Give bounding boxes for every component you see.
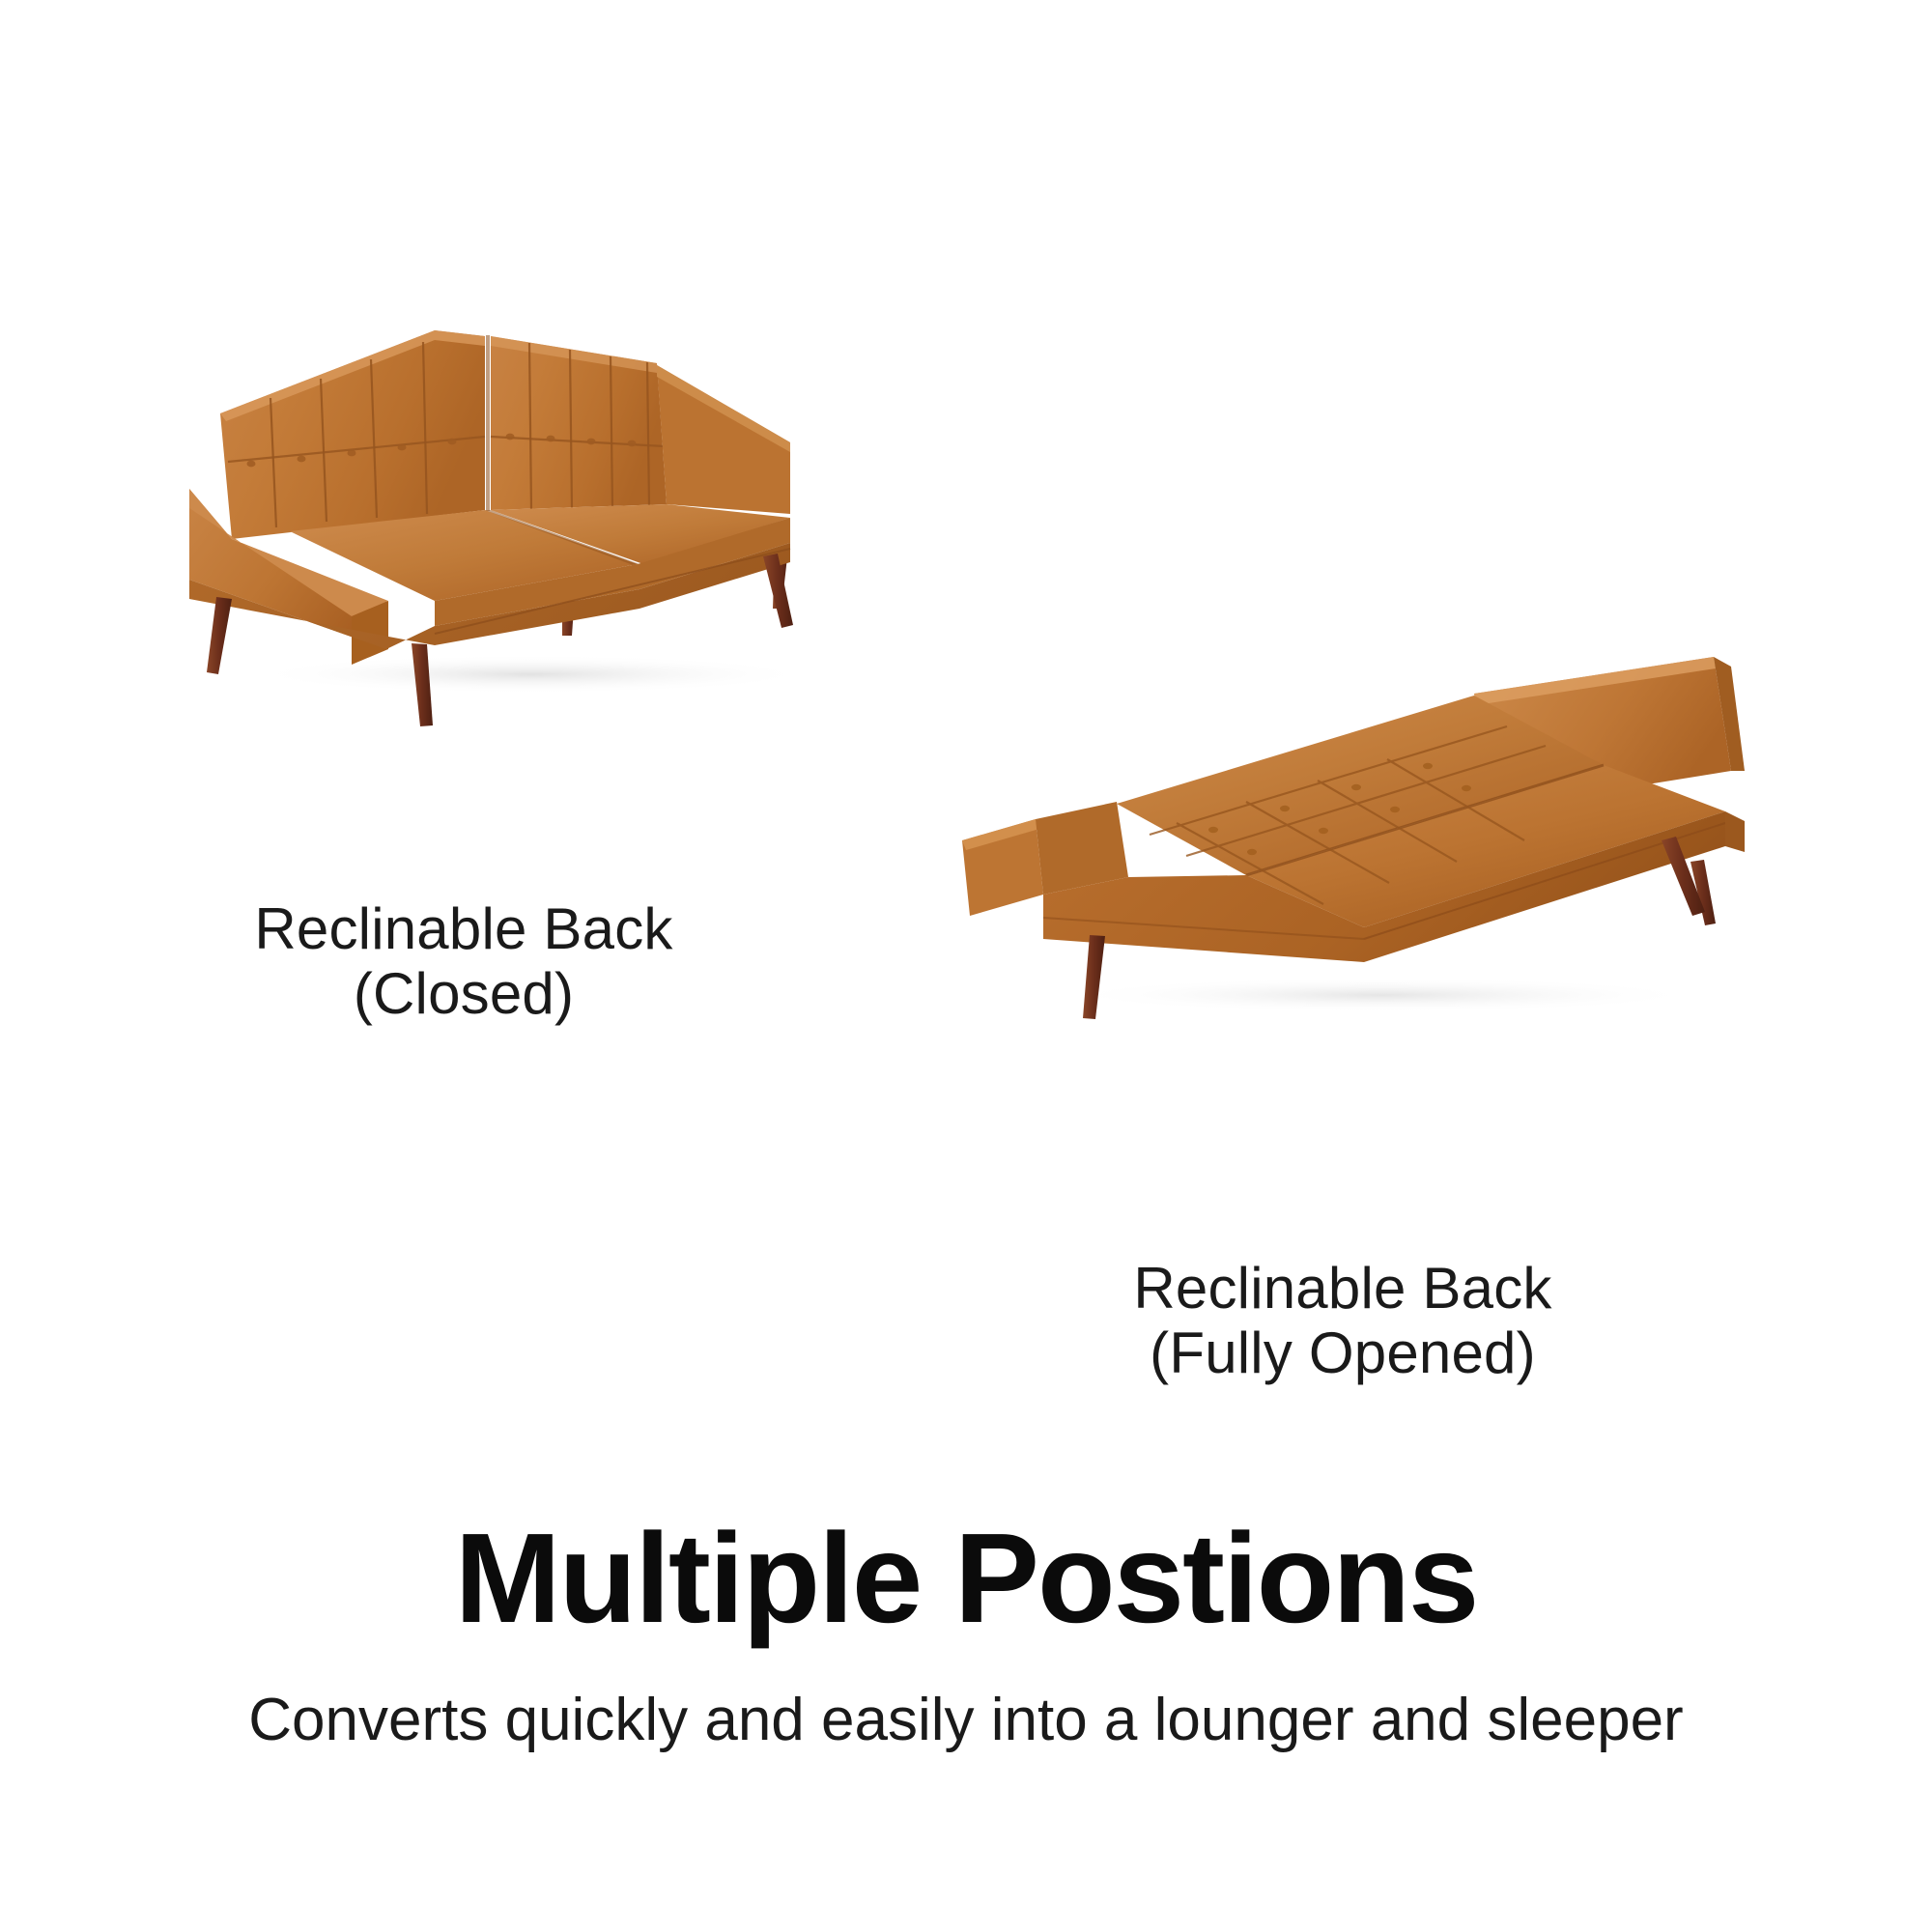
sofa-leg-front-left xyxy=(207,597,232,674)
subheadline-converts-description: Converts quickly and easily into a loung… xyxy=(0,1686,1932,1754)
sofa-closed-floor-shadow xyxy=(251,655,811,694)
sofa-open-leg-front-left xyxy=(1083,935,1105,1019)
bed-right-face xyxy=(1725,811,1745,852)
infographic-canvas: Reclinable Back (Closed) xyxy=(0,0,1932,1932)
sofa-open-floor-shadow xyxy=(1063,978,1700,1012)
caption-reclinable-back-fully-opened: Reclinable Back (Fully Opened) xyxy=(1053,1256,1633,1385)
backrest-panel-left xyxy=(220,330,485,539)
sofa-leg-front-right xyxy=(763,554,793,628)
sofa-opened-image xyxy=(927,599,1816,1024)
headline-multiple-positions: Multiple Postions xyxy=(0,1505,1932,1651)
backrest-center-split xyxy=(486,335,490,511)
sofa-closed-image xyxy=(145,290,879,696)
caption-reclinable-back-closed: Reclinable Back (Closed) xyxy=(174,896,753,1026)
